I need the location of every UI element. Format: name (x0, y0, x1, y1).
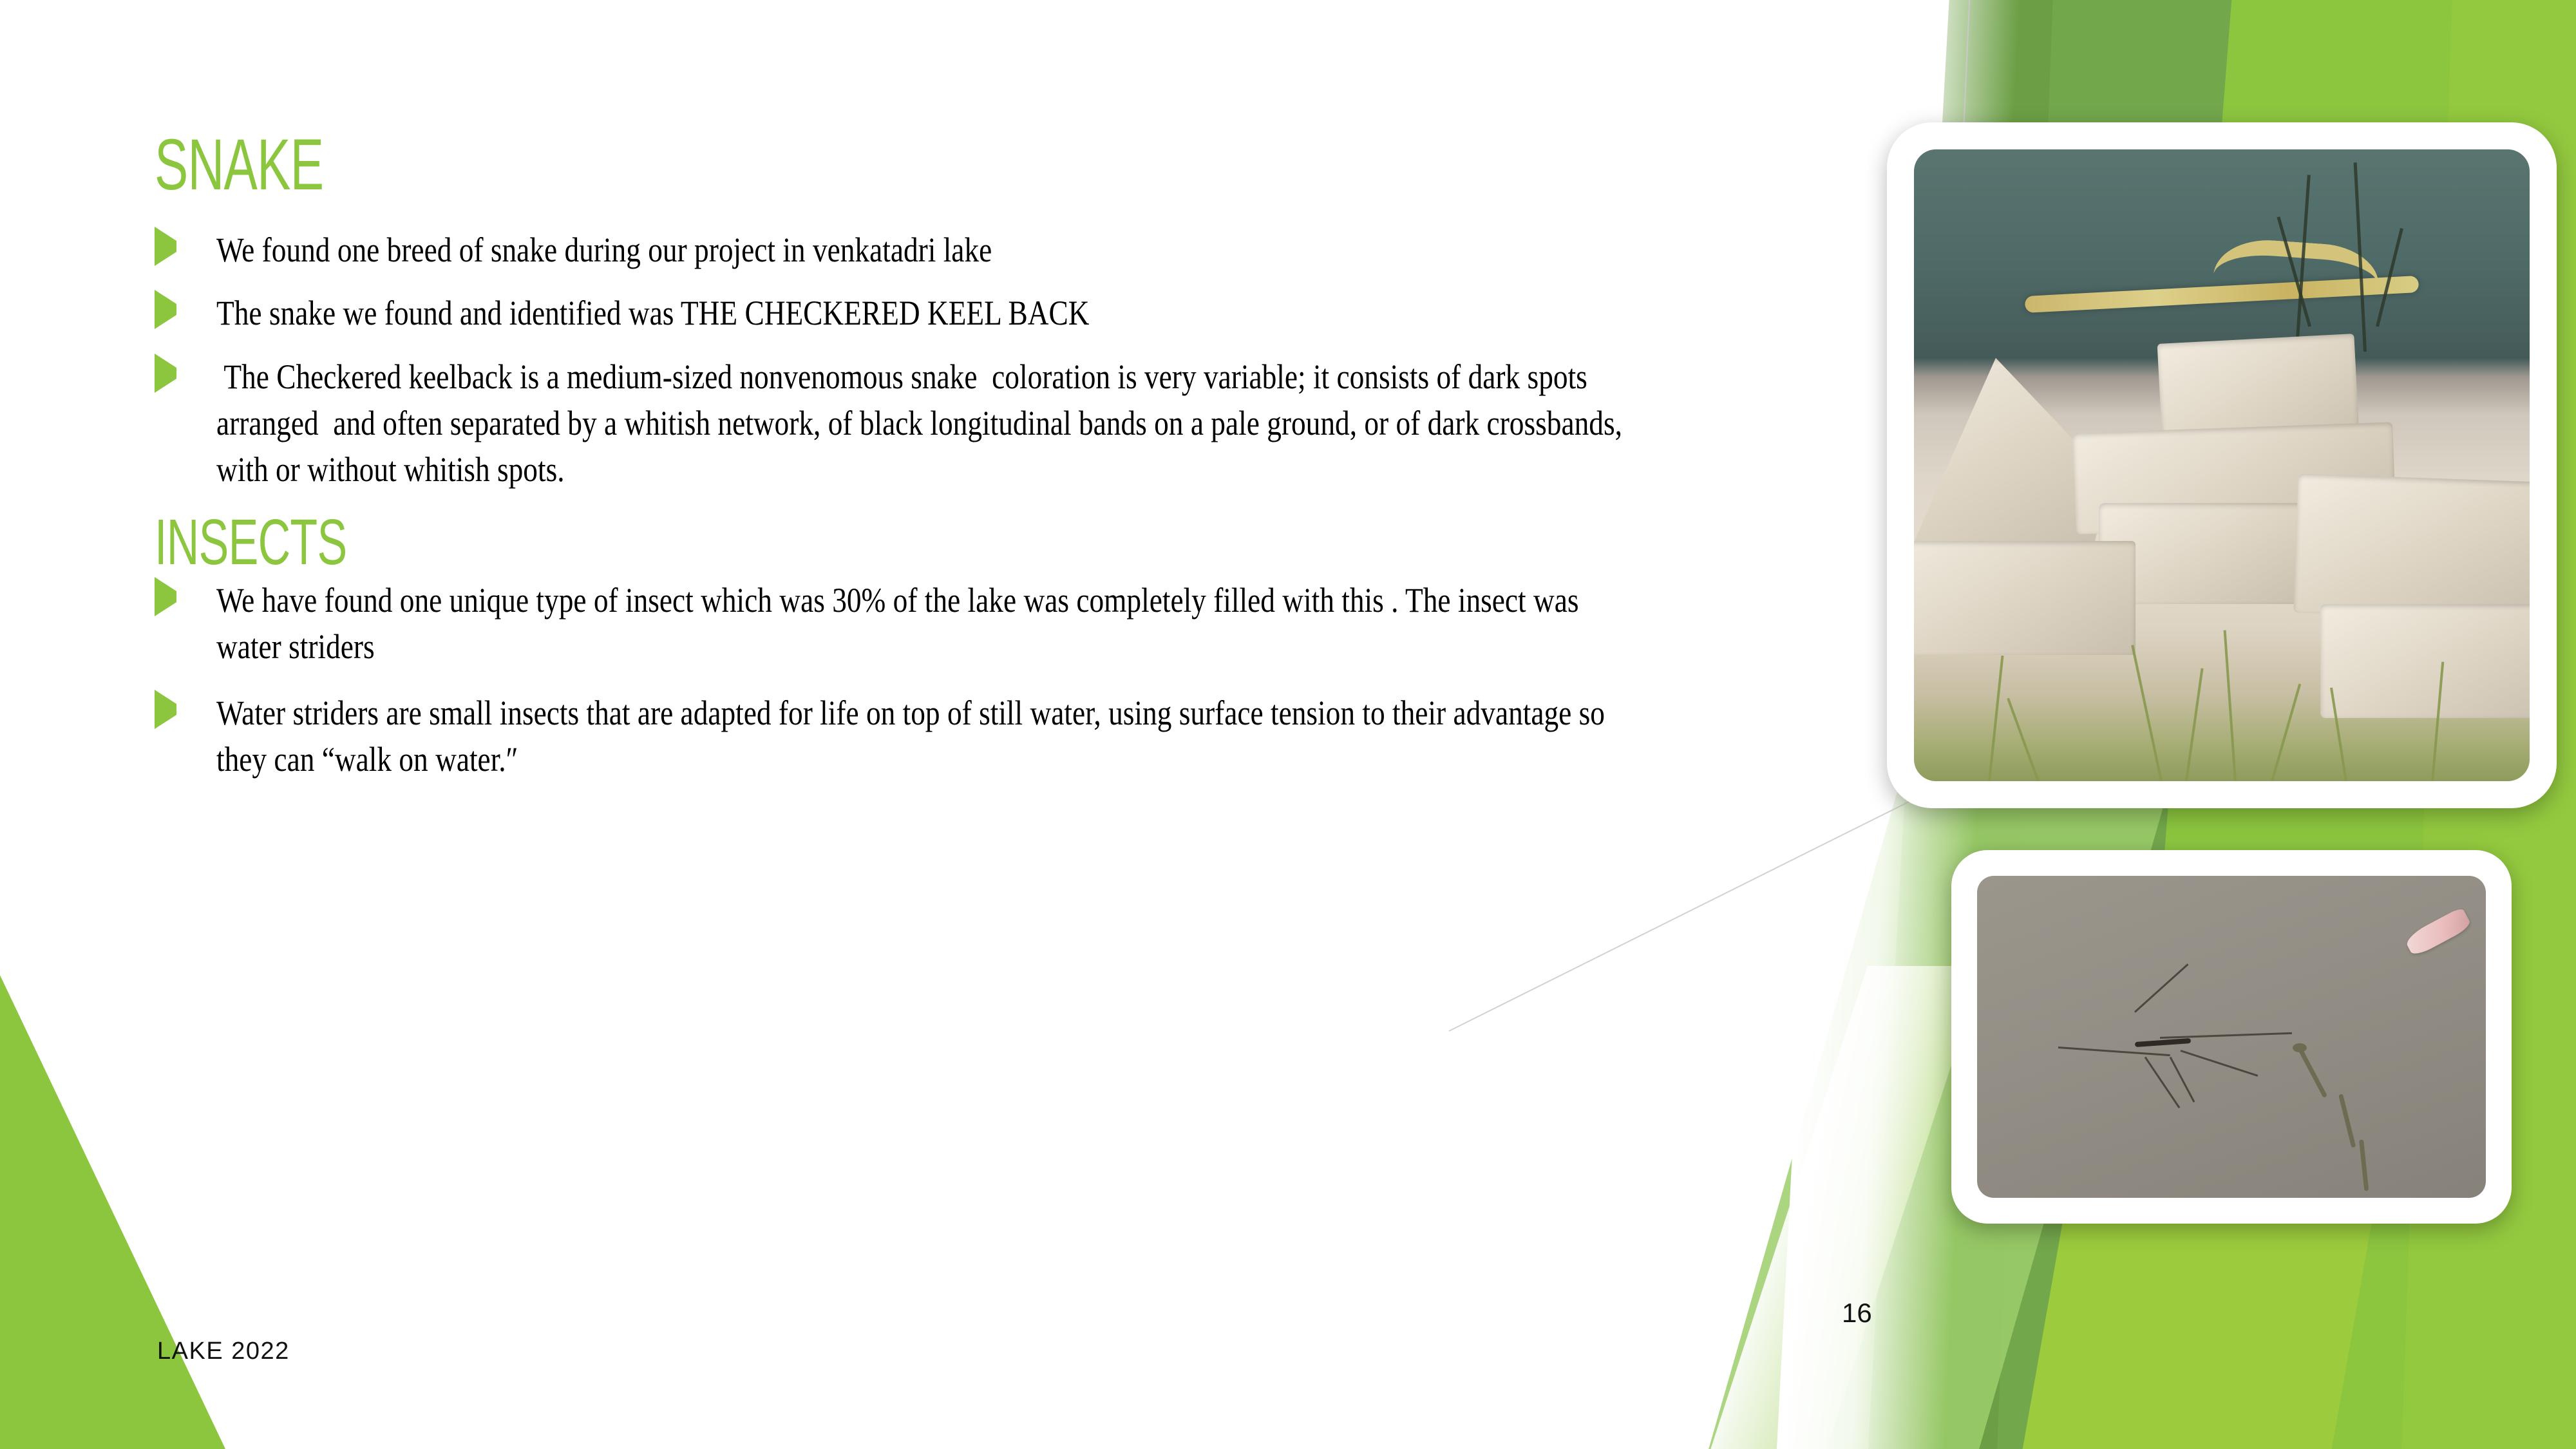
footer-label: LAKE 2022 (157, 1338, 290, 1365)
bullet-triangle-icon (155, 591, 184, 603)
bullet-text: We found one breed of snake during our p… (216, 227, 1625, 273)
bullet-text: We have found one unique type of insect … (216, 577, 1625, 670)
page-number: 16 (1842, 1298, 1872, 1329)
bullet-triangle-icon (155, 368, 184, 379)
list-item: Water striders are small insects that ar… (155, 690, 1893, 783)
bullet-list-snake: We found one breed of snake during our p… (155, 227, 1893, 493)
bullet-triangle-icon (155, 241, 184, 252)
bullet-list-insects: We have found one unique type of insect … (155, 577, 1893, 782)
list-item: We found one breed of snake during our p… (155, 227, 1893, 273)
green-wedge-bottom-left (0, 972, 225, 1449)
pale-green-wash (1696, 966, 1984, 1449)
pink-object-shape (2403, 907, 2472, 958)
slide: SNAKE We found one breed of snake during… (0, 0, 2576, 1449)
slide-content: SNAKE We found one breed of snake during… (155, 129, 1893, 802)
bullet-triangle-icon (155, 704, 184, 715)
strider-body-shape (2135, 1038, 2191, 1047)
snake-photo-image (1914, 149, 2530, 781)
list-item: The snake we found and identified was TH… (155, 290, 1893, 336)
water-strider-photo-image (1977, 876, 2486, 1198)
section-heading-insects: INSECTS (155, 510, 1372, 574)
list-item: The Checkered keelback is a medium-sized… (155, 354, 1893, 493)
bullet-text: Water striders are small insects that ar… (216, 690, 1625, 783)
section-heading-snake: SNAKE (155, 129, 1372, 201)
water-strider-photo (1951, 850, 2512, 1224)
bullet-text: The Checkered keelback is a medium-sized… (216, 354, 1625, 493)
bullet-triangle-icon (155, 304, 184, 316)
bullet-text: The snake we found and identified was TH… (216, 290, 1625, 336)
list-item: We have found one unique type of insect … (155, 577, 1893, 670)
snake-photo (1887, 122, 2557, 808)
